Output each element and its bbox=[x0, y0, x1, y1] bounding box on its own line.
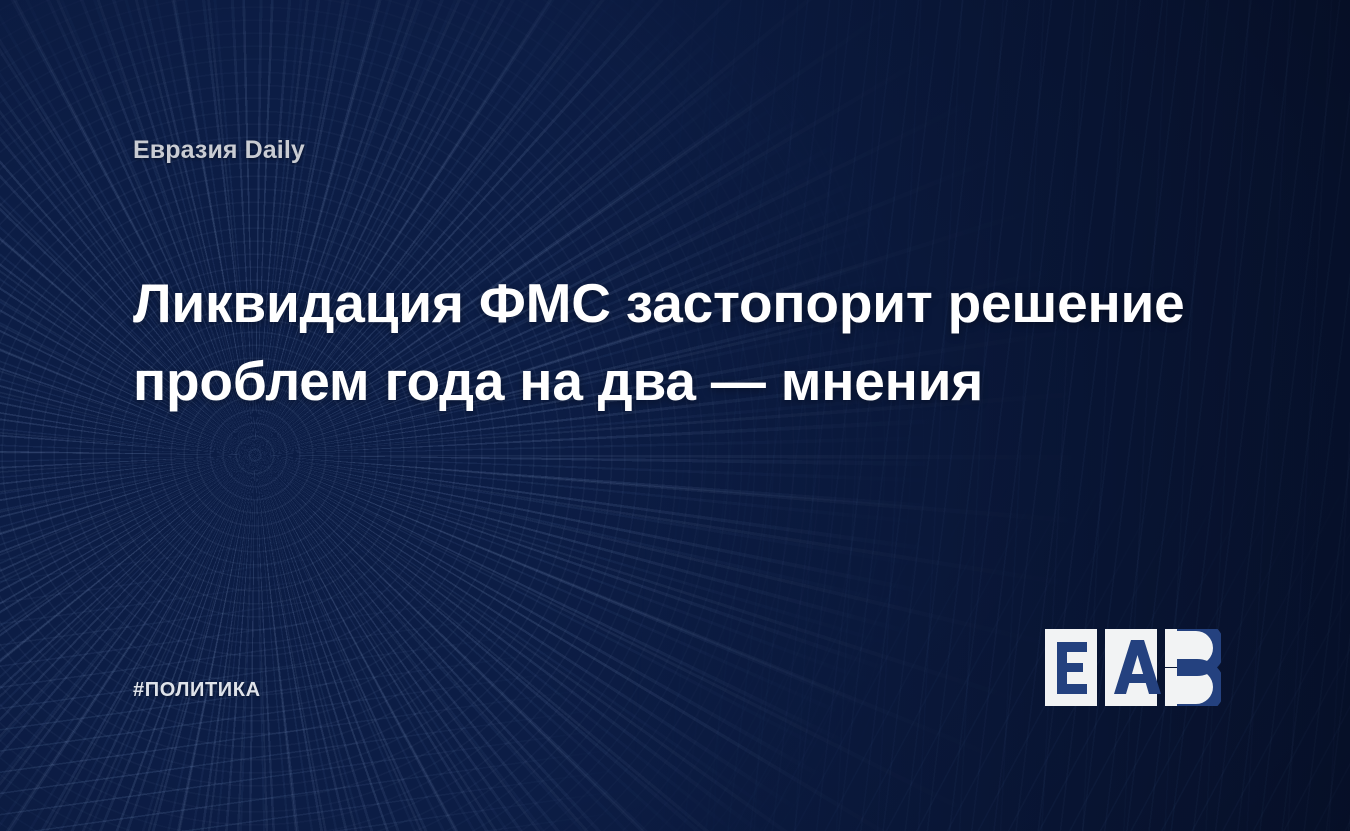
brand-wordmark[interactable]: Евразия Daily bbox=[133, 136, 305, 165]
ead-logo[interactable] bbox=[1045, 629, 1221, 706]
ead-logo-svg bbox=[1045, 629, 1221, 706]
card-content: Евразия Daily Ликвидация ФМС застопорит … bbox=[0, 0, 1350, 831]
category-tag-politics[interactable]: #ПОЛИТИКА bbox=[133, 679, 261, 702]
logo-letter-e bbox=[1057, 642, 1087, 694]
article-share-card: Евразия Daily Ликвидация ФМС застопорит … bbox=[0, 0, 1350, 831]
page-title: Ликвидация ФМС застопорит решение пробле… bbox=[133, 264, 1203, 420]
